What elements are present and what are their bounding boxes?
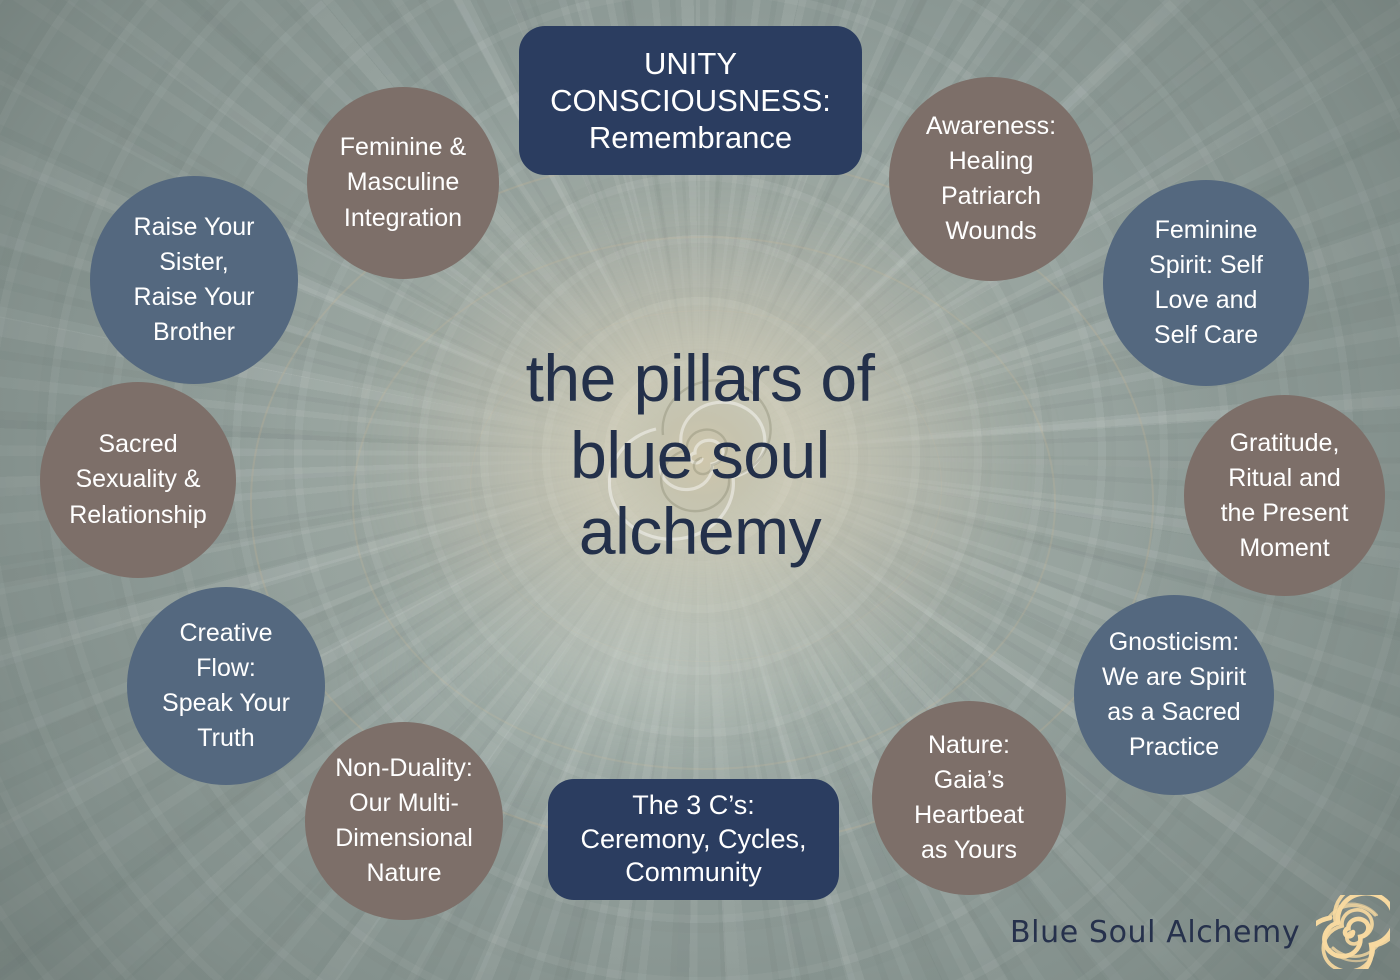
brand-name: Blue Soul Alchemy — [1010, 915, 1300, 950]
spiral-swirl-icon — [1316, 895, 1390, 969]
pillar-bubble-label: Awareness: Healing Patriarch Wounds — [889, 109, 1093, 249]
pillar-bubble-creative-flow-speak-your-truth[interactable]: Creative Flow: Speak Your Truth — [127, 587, 325, 785]
pillar-bubble-label: Raise Your Sister, Raise Your Brother — [90, 210, 298, 350]
pillar-bubble-label: Creative Flow: Speak Your Truth — [127, 616, 325, 756]
pillar-bubble-feminine-spirit-self-love-self-care[interactable]: Feminine Spirit: Self Love and Self Care — [1103, 180, 1309, 386]
pillar-bubble-label: The 3 C’s: Ceremony, Cycles, Community — [548, 789, 839, 889]
pillar-bubble-gnosticism-we-are-spirit[interactable]: Gnosticism: We are Spirit as a Sacred Pr… — [1074, 595, 1274, 795]
pillar-bubble-label: Non-Duality: Our Multi- Dimensional Natu… — [305, 751, 503, 891]
pillar-bubble-label: Feminine Spirit: Self Love and Self Care — [1103, 213, 1309, 353]
pillar-bubble-sacred-sexuality-relationship[interactable]: Sacred Sexuality & Relationship — [40, 382, 236, 578]
pillar-bubble-label: Gnosticism: We are Spirit as a Sacred Pr… — [1074, 625, 1274, 765]
infographic-canvas: the pillars of blue soul alchemy UNITY C… — [0, 0, 1400, 980]
pillar-bubble-label: UNITY CONSCIOUSNESS: Remembrance — [519, 45, 862, 157]
pillar-bubble-label: Nature: Gaia’s Heartbeat as Yours — [872, 728, 1066, 868]
pillar-bubble-gratitude-ritual-present-moment[interactable]: Gratitude, Ritual and the Present Moment — [1184, 395, 1385, 596]
pillar-bubble-label: Gratitude, Ritual and the Present Moment — [1184, 426, 1385, 566]
pillar-bubble-unity-consciousness[interactable]: UNITY CONSCIOUSNESS: Remembrance — [519, 26, 862, 175]
page-title: the pillars of blue soul alchemy — [420, 340, 980, 570]
pillar-bubble-label: Sacred Sexuality & Relationship — [40, 427, 236, 534]
brand-logo: Blue Soul Alchemy — [1010, 895, 1390, 969]
pillar-bubble-awareness-healing-patriarch-wounds[interactable]: Awareness: Healing Patriarch Wounds — [889, 77, 1093, 281]
pillar-bubble-nature-gaia-heartbeat[interactable]: Nature: Gaia’s Heartbeat as Yours — [872, 701, 1066, 895]
pillar-bubble-feminine-masculine-integration[interactable]: Feminine & Masculine Integration — [307, 87, 499, 279]
pillar-bubble-label: Feminine & Masculine Integration — [307, 130, 499, 237]
pillar-bubble-the-3-cs[interactable]: The 3 C’s: Ceremony, Cycles, Community — [548, 779, 839, 900]
pillar-bubble-non-duality-multi-dimensional-nature[interactable]: Non-Duality: Our Multi- Dimensional Natu… — [305, 722, 503, 920]
pillar-bubble-raise-your-sister-raise-your-brother[interactable]: Raise Your Sister, Raise Your Brother — [90, 176, 298, 384]
